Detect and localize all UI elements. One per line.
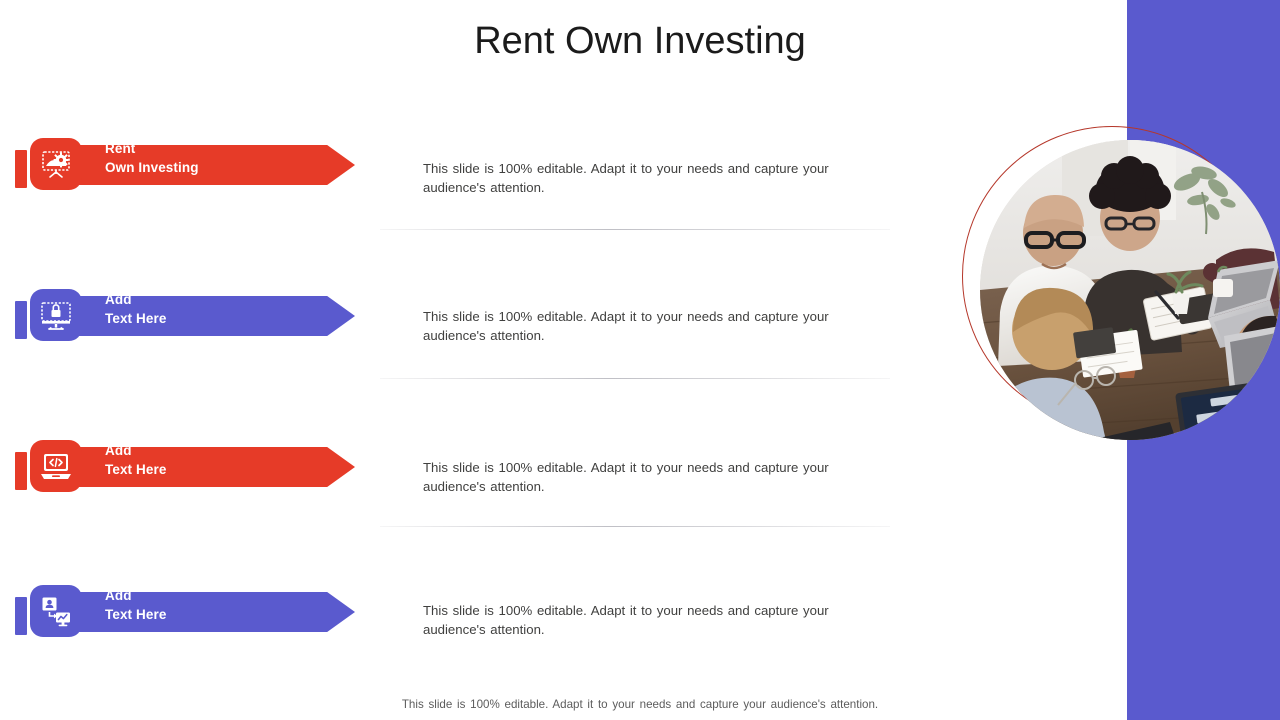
row-divider — [380, 378, 890, 379]
monitor-code-icon[interactable] — [30, 440, 82, 492]
user-card-to-chart-monitor-icon[interactable] — [30, 585, 82, 637]
list-item[interactable]: Add Text Here This slide is 100% editabl… — [0, 560, 920, 670]
page-title: Rent Own Investing — [380, 20, 900, 63]
accent-tab — [15, 301, 27, 339]
list-item[interactable]: Add Text Here This slide is 100% editabl… — [0, 415, 920, 525]
team-meeting-photo — [980, 140, 1280, 440]
row-body-text: This slide is 100% editable. Adapt it to… — [423, 602, 868, 639]
row-divider — [380, 229, 890, 230]
slide-canvas: Rent Own Investing — [0, 0, 1280, 720]
accent-tab — [15, 452, 27, 490]
list-item[interactable]: Rent Own Investing This slide is 100% ed… — [0, 113, 920, 223]
row-body-text: This slide is 100% editable. Adapt it to… — [423, 160, 868, 197]
banner-label: Add Text Here — [105, 290, 166, 328]
banner-label-line1: Add — [105, 292, 132, 307]
banner-label-line2: Own Investing — [105, 158, 199, 177]
footer-note: This slide is 100% editable. Adapt it to… — [180, 698, 1100, 711]
banner-label: Add Text Here — [105, 586, 166, 624]
banner-label-line1: Rent — [105, 141, 135, 156]
monitor-lock-icon[interactable] — [30, 289, 82, 341]
row-body-text: This slide is 100% editable. Adapt it to… — [423, 308, 868, 345]
banner-label-line2: Text Here — [105, 309, 166, 328]
row-divider — [380, 526, 890, 527]
banner-label-line1: Add — [105, 588, 132, 603]
banner-label-line2: Text Here — [105, 605, 166, 624]
presentation-gear-icon[interactable] — [30, 138, 82, 190]
banner-label-line1: Add — [105, 443, 132, 458]
banner-label-line2: Text Here — [105, 460, 166, 479]
accent-tab — [15, 597, 27, 635]
list-item[interactable]: Add Text Here This slide is 100% editabl… — [0, 264, 920, 374]
banner-label: Add Text Here — [105, 441, 166, 479]
banner-label: Rent Own Investing — [105, 139, 199, 177]
accent-tab — [15, 150, 27, 188]
row-body-text: This slide is 100% editable. Adapt it to… — [423, 459, 868, 496]
